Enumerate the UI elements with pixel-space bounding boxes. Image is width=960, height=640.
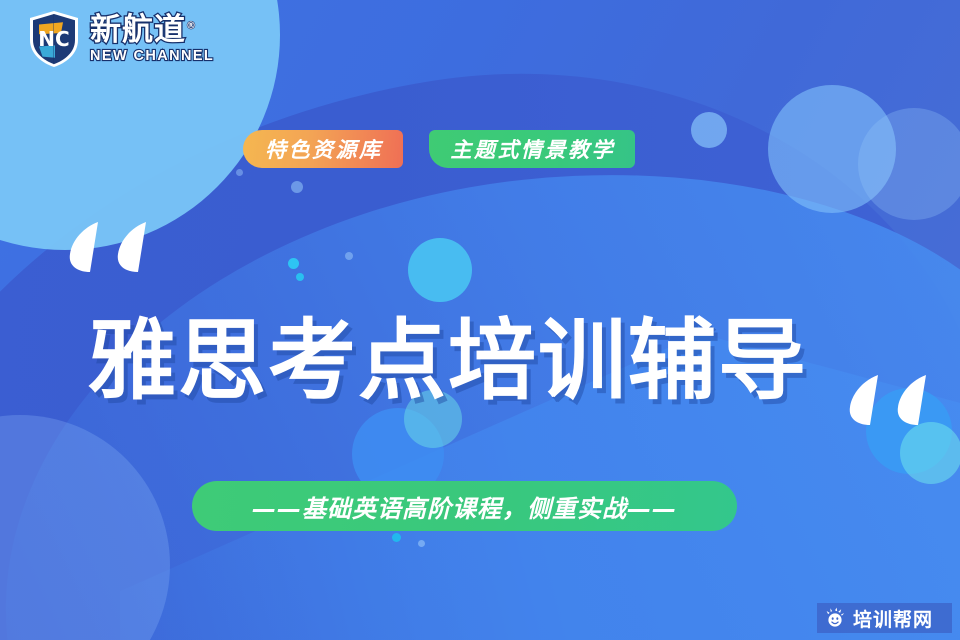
brand-logo[interactable]: NC 新航道® NEW CHANNEL (28, 10, 214, 68)
subtitle-pill[interactable]: ——基础英语高阶课程，侧重实战—— (192, 481, 737, 531)
quote-glyph-icon (848, 375, 882, 427)
quote-glyph-icon (116, 222, 150, 274)
decorative-dot (288, 258, 299, 269)
site-watermark: 培训帮网 (817, 603, 952, 633)
badge-resource-library[interactable]: 特色资源库 (243, 130, 403, 168)
registered-trademark-icon: ® (186, 20, 197, 31)
logo-brand-en: NEW CHANNEL (90, 49, 214, 64)
decorative-circle-cyan-mid (408, 238, 472, 302)
opening-quote-mark (68, 222, 150, 274)
decorative-dot (236, 169, 243, 176)
badge-thematic-teaching[interactable]: 主题式情景教学 (429, 130, 636, 168)
decorative-circle-bottom-right-cyan (900, 422, 960, 484)
quote-glyph-icon (896, 375, 930, 427)
logo-brand-cn: 新航道® (90, 15, 197, 46)
shield-initials: NC (38, 27, 69, 51)
watermark-label: 培训帮网 (853, 605, 933, 632)
page-title: 雅思考点培训辅导 (88, 317, 808, 405)
decorative-dot (296, 273, 304, 281)
decorative-dot (345, 252, 353, 260)
decorative-circle-right-small (858, 108, 960, 220)
sun-face-icon (824, 607, 846, 629)
shield-icon: NC (28, 10, 80, 68)
closing-quote-mark (848, 375, 930, 427)
promo-banner: NC 新航道® NEW CHANNEL 特色资源库 主题式情景教学 雅思考点培训… (0, 0, 960, 640)
feature-badge-row: 特色资源库 主题式情景教学 (243, 130, 635, 168)
decorative-circle-right-tiny (691, 112, 727, 148)
logo-wordmark: 新航道® NEW CHANNEL (90, 15, 214, 64)
decorative-dot (392, 533, 401, 542)
logo-brand-cn-text: 新航道 (90, 12, 186, 48)
decorative-dot (418, 540, 425, 547)
quote-glyph-icon (68, 222, 102, 274)
decorative-dot (291, 181, 303, 193)
